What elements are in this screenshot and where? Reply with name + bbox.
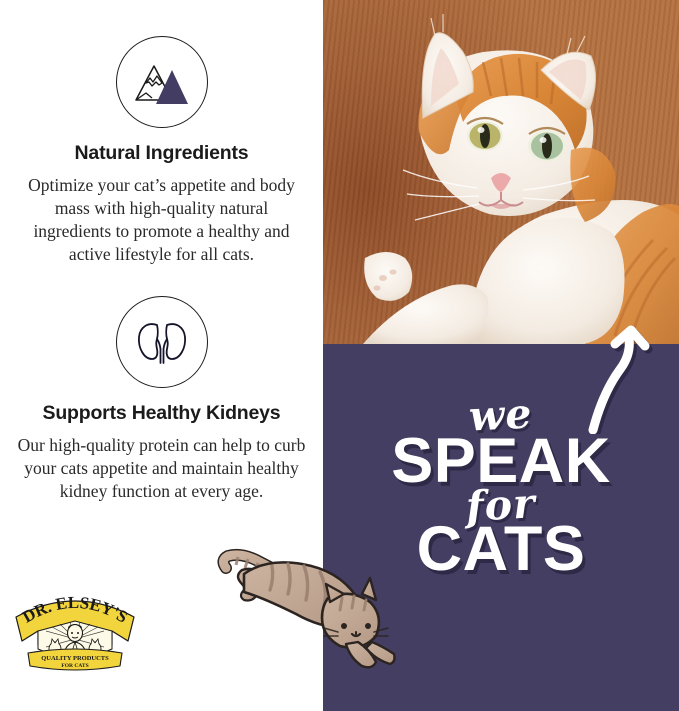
feature-supports-healthy-kidneys: Supports Healthy Kidneys Our high-qualit… (0, 296, 323, 503)
logo-tagline: QUALITY PRODUCTS (41, 655, 109, 662)
feature-body: Optimize your cat’s appetite and body ma… (0, 174, 323, 266)
logo-subtagline: FOR CATS (61, 663, 88, 669)
ad-canvas: Natural Ingredients Optimize your cat’s … (0, 0, 679, 711)
kidneys-icon (116, 296, 208, 388)
feature-natural-ingredients: Natural Ingredients Optimize your cat’s … (0, 36, 323, 266)
cat-photo (323, 0, 679, 344)
feature-title: Supports Healthy Kidneys (0, 402, 323, 425)
cat-photo-subject (323, 0, 679, 344)
mountain-icon (116, 36, 208, 128)
slogan-line-for: for (465, 483, 537, 528)
slogan-line-we: we (468, 394, 533, 436)
dr-elseys-logo: DR. ELSEY'S QUALITY PRODUCTS FOR CATS (8, 587, 142, 671)
leaping-tabby-cat-illustration (216, 540, 396, 670)
feature-title: Natural Ingredients (0, 142, 323, 165)
feature-body: Our high-quality protein can help to cur… (0, 434, 323, 503)
